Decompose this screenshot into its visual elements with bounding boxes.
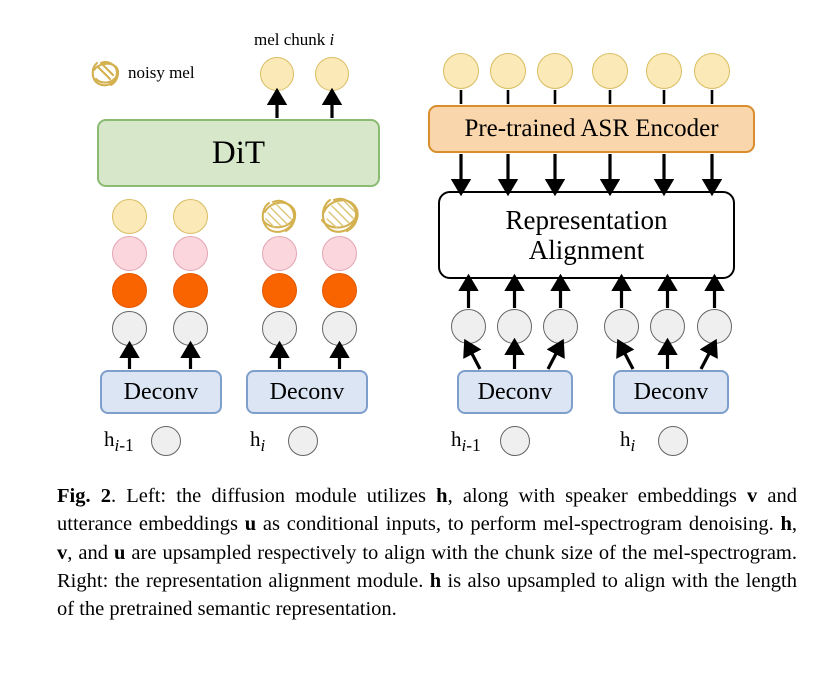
upsampled-hidden-circle — [543, 309, 578, 344]
h-cur-label-left: hi — [250, 427, 265, 456]
caption-symbol-h: h — [436, 485, 447, 507]
caption-text-4: as conditional inputs, to perform mel-sp… — [256, 513, 780, 535]
utterance-embedding-circle — [262, 273, 297, 308]
deconv-label: Deconv — [124, 379, 199, 406]
asr-encoder-block: Pre-trained ASR Encoder — [428, 105, 755, 153]
upsampled-hidden-circle — [650, 309, 685, 344]
caption-symbol-u: u — [245, 513, 256, 535]
representation-alignment-label-line2: Alignment — [529, 235, 645, 265]
dit-block: DiT — [97, 119, 380, 187]
deconv-block-right-cur: Deconv — [613, 370, 729, 414]
upsampled-hidden-circle — [697, 309, 732, 344]
speaker-embedding-circle — [173, 236, 208, 271]
caption-text-1: . Left: the diffusion module utilizes — [111, 485, 436, 507]
utterance-embedding-circle — [173, 273, 208, 308]
dit-label: DiT — [212, 135, 265, 172]
speaker-embedding-circle — [112, 236, 147, 271]
hidden-state-circle — [112, 311, 147, 346]
h-prev-circle-left — [151, 426, 181, 456]
caption-symbol-h2: h — [780, 513, 791, 535]
figure-diagram: noisy mel mel chunk i DiT — [0, 0, 840, 470]
figure-caption: Fig. 2. Left: the diffusion module utili… — [57, 482, 797, 623]
semantic-token-circle — [443, 53, 479, 89]
caption-figure-number: Fig. 2 — [57, 485, 111, 507]
h-prev-label-left: hi-1 — [104, 427, 134, 456]
asr-encoder-label: Pre-trained ASR Encoder — [464, 115, 718, 143]
mel-token-circle — [112, 199, 147, 234]
representation-alignment-label-line1: Representation — [506, 205, 668, 235]
utterance-embedding-circle — [322, 273, 357, 308]
h-cur-label-right: hi — [620, 427, 635, 456]
clipped-margin-text: - . . n - n . e . t e . 5 e - r — [0, 0, 14, 696]
mel-chunk-circle — [315, 57, 349, 91]
speaker-embedding-circle — [322, 236, 357, 271]
utterance-embedding-circle — [112, 273, 147, 308]
semantic-token-circle — [694, 53, 730, 89]
deconv-label: Deconv — [478, 379, 553, 406]
noisy-mel-circle — [258, 196, 300, 238]
hidden-state-circle — [322, 311, 357, 346]
semantic-token-circle — [490, 53, 526, 89]
noisy-mel-legend-icon — [88, 57, 122, 91]
deconv-label: Deconv — [270, 379, 345, 406]
caption-symbol-u2: u — [114, 542, 125, 564]
caption-text-2: , along with speaker embeddings — [448, 485, 747, 507]
semantic-token-circle — [646, 53, 682, 89]
caption-text-6: , and — [67, 542, 114, 564]
h-cur-circle-left — [288, 426, 318, 456]
deconv-block-left-prev: Deconv — [100, 370, 222, 414]
mel-token-circle — [173, 199, 208, 234]
upsampled-hidden-circle — [497, 309, 532, 344]
deconv-block-left-cur: Deconv — [246, 370, 368, 414]
noisy-mel-circle — [318, 194, 362, 238]
caption-text-5: , — [792, 513, 797, 535]
semantic-token-circle — [537, 53, 573, 89]
upsampled-hidden-circle — [604, 309, 639, 344]
h-prev-circle-right — [500, 426, 530, 456]
deconv-block-right-prev: Deconv — [457, 370, 573, 414]
caption-symbol-h3: h — [430, 570, 441, 592]
h-prev-label-right: hi-1 — [451, 427, 481, 456]
noisy-mel-legend-label: noisy mel — [128, 63, 195, 83]
representation-alignment-block: Representation Alignment — [438, 191, 735, 279]
caption-symbol-v2: v — [57, 542, 67, 564]
semantic-token-circle — [592, 53, 628, 89]
upsampled-hidden-circle — [451, 309, 486, 344]
speaker-embedding-circle — [262, 236, 297, 271]
deconv-label: Deconv — [634, 379, 709, 406]
hidden-state-circle — [262, 311, 297, 346]
hidden-state-circle — [173, 311, 208, 346]
caption-symbol-v: v — [747, 485, 757, 507]
mel-chunk-circle — [260, 57, 294, 91]
mel-chunk-label: mel chunk i — [254, 30, 334, 50]
h-cur-circle-right — [658, 426, 688, 456]
